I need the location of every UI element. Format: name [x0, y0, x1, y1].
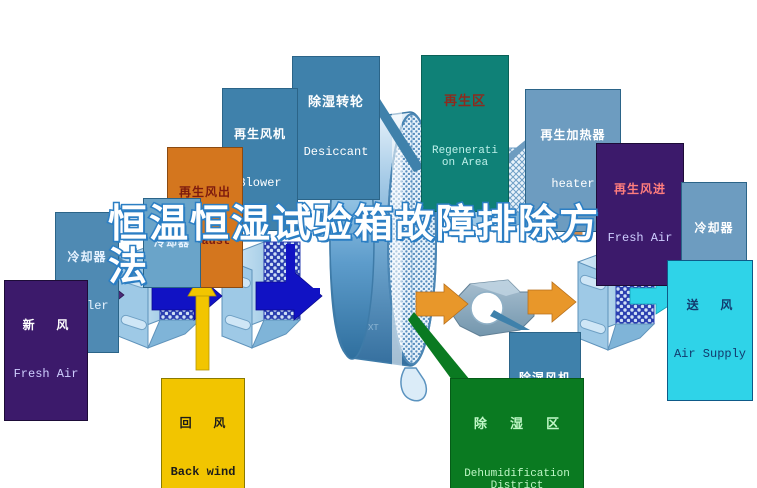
- svg-text:xт: xт: [368, 321, 379, 333]
- label-dehumidification-district-en: Dehumidification District: [453, 468, 581, 488]
- label-back-wind-cn: 回 风: [164, 417, 242, 430]
- diagram-canvas: xт: [0, 0, 757, 488]
- label-regen-blower-cn: 再生风机: [225, 128, 295, 141]
- label-back-wind[interactable]: 回 风 Back wind: [161, 378, 245, 488]
- label-dehumidification-district[interactable]: 除 湿 区 Dehumidification District: [450, 378, 584, 488]
- label-air-supply-en: Air Supply: [670, 348, 750, 361]
- overlay-title-line1: 恒温恒湿试验箱故障排除方: [108, 203, 668, 246]
- label-dehumidification-district-cn: 除 湿 区: [453, 418, 581, 433]
- label-cooler-right-cn: 冷却器: [684, 222, 744, 235]
- label-fresh-air-main[interactable]: 新 风 Fresh Air: [4, 280, 88, 421]
- label-regeneration-area-cn: 再生区: [424, 95, 506, 110]
- label-fresh-air-main-en: Fresh Air: [7, 368, 85, 381]
- label-desiccant[interactable]: 除湿转轮 Desiccant: [292, 56, 380, 200]
- label-air-supply[interactable]: 送 风 Air Supply: [667, 260, 753, 401]
- label-regen-heater-cn: 再生加热器: [528, 129, 618, 142]
- label-fresh-air-regen-cn: 再生风进: [599, 183, 681, 196]
- label-desiccant-cn: 除湿转轮: [295, 96, 377, 111]
- label-desiccant-en: Desiccant: [295, 146, 377, 159]
- label-fresh-air-main-cn: 新 风: [7, 319, 85, 332]
- label-air-supply-cn: 送 风: [670, 299, 750, 312]
- label-regeneration-area[interactable]: 再生区 Regenerati on Area: [421, 55, 509, 212]
- label-regeneration-area-en: Regenerati on Area: [424, 145, 506, 170]
- label-back-wind-en: Back wind: [164, 466, 242, 479]
- overlay-title-line2: 法: [108, 246, 668, 289]
- overlay-title: 恒温恒湿试验箱故障排除方 法: [108, 203, 668, 293]
